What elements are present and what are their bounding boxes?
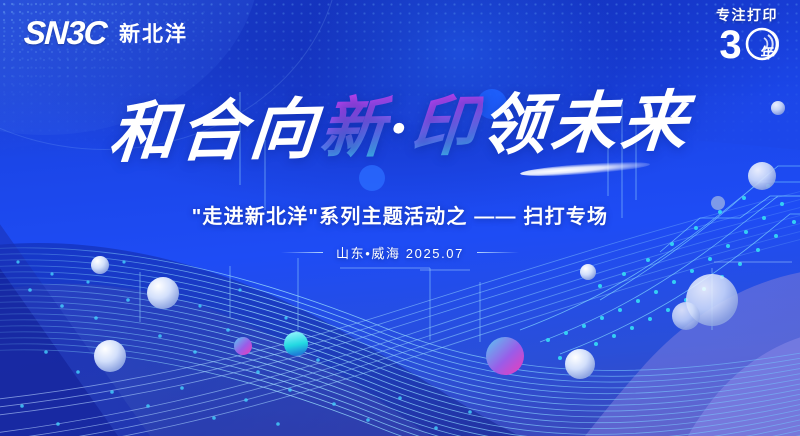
- anniversary-badge: 专注打印 3 年: [716, 8, 778, 66]
- brand-logo[interactable]: SN3C 新北洋: [24, 14, 188, 52]
- main-title-block: 和合向新·印领未来: [0, 96, 800, 162]
- anniversary-number-row: 3 年: [716, 24, 778, 66]
- main-title: 和合向新·印领未来: [106, 90, 693, 168]
- event-banner: SN3C 新北洋 专注打印 3 年 和合向新·印领未来 "走进新北洋"系列主题活…: [0, 0, 800, 436]
- dateline: 山东•威海 2025.07: [0, 243, 800, 262]
- logo-company-name-cn: 新北洋: [119, 18, 188, 48]
- subtitle: "走进新北洋"系列主题活动之 —— 扫打专场: [0, 200, 800, 229]
- title-part-3-gradient: 印: [407, 90, 483, 164]
- logo-wordmark: SN3C: [23, 14, 107, 52]
- title-part-2-gradient: 新: [317, 92, 393, 166]
- anniversary-number: 3: [719, 25, 740, 65]
- dateline-rule-right: [477, 252, 519, 253]
- title-part-1: 和合向: [106, 94, 323, 171]
- anniversary-ring-icon: [745, 27, 779, 61]
- dateline-text: 山东•威海 2025.07: [336, 243, 464, 262]
- dateline-rule-left: [281, 252, 323, 253]
- anniversary-tagline: 专注打印: [716, 8, 778, 23]
- title-part-4: 领未来: [477, 86, 694, 163]
